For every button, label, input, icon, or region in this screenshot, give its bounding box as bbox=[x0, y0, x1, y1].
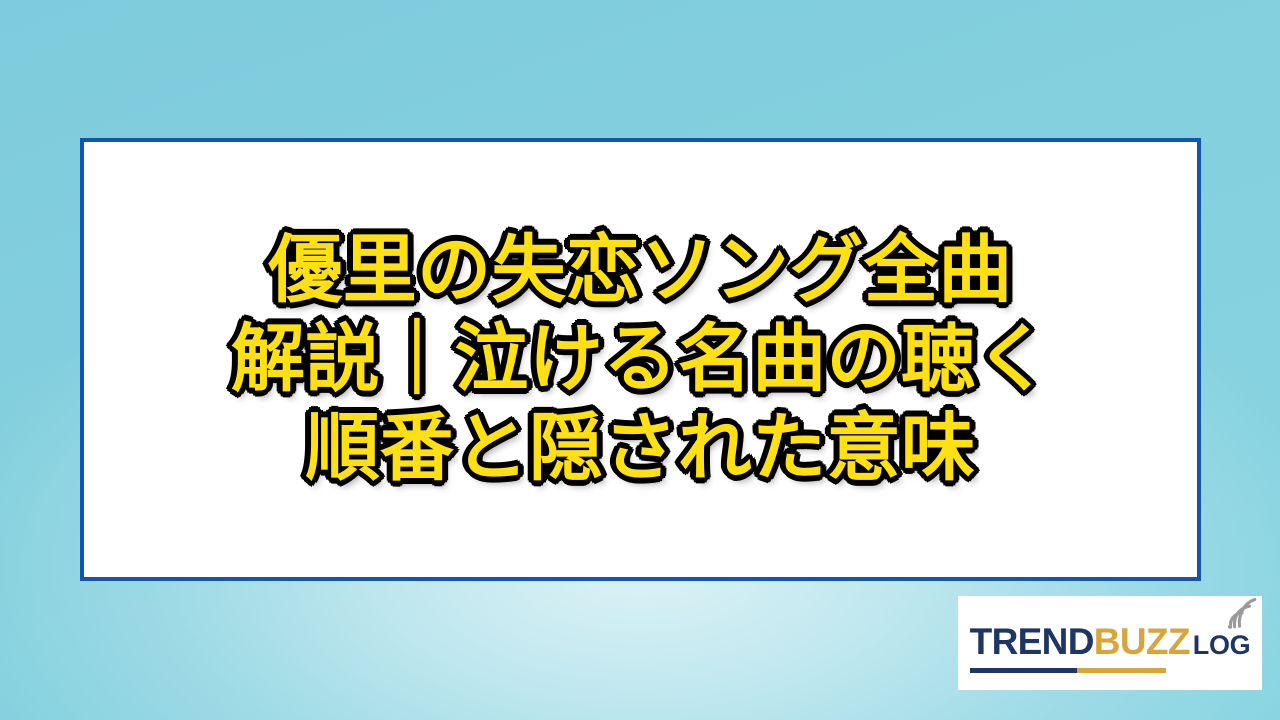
title-line-3: 順番と隠された意味 bbox=[305, 404, 975, 493]
brand-logo: TRENDBUZZ LOG bbox=[964, 623, 1257, 664]
brand-logo-card[interactable]: TRENDBUZZ LOG bbox=[958, 596, 1262, 690]
title-line-2: 解説｜泣ける名曲の聴く bbox=[231, 315, 1050, 404]
thumbnail-canvas: 優里の失恋ソング全曲 解説｜泣ける名曲の聴く 順番と隠された意味 TRENDBU… bbox=[0, 0, 1280, 720]
brand-word-log: LOG bbox=[1193, 632, 1251, 659]
title-text-block: 優里の失恋ソング全曲 解説｜泣ける名曲の聴く 順番と隠された意味 bbox=[231, 226, 1050, 492]
title-panel: 優里の失恋ソング全曲 解説｜泣ける名曲の聴く 順番と隠された意味 bbox=[80, 138, 1201, 581]
brand-word-buzz: BUZZ bbox=[1094, 621, 1190, 662]
brand-wordmark: TRENDBUZZ bbox=[970, 623, 1190, 660]
underline-segment-navy bbox=[970, 668, 1078, 673]
underline-segment-gold bbox=[1077, 668, 1165, 673]
title-line-1: 優里の失恋ソング全曲 bbox=[268, 226, 1012, 315]
brand-word-trend: TREND bbox=[970, 621, 1094, 662]
signal-waves-icon bbox=[1223, 594, 1260, 629]
brand-underline-rule bbox=[970, 668, 1166, 673]
